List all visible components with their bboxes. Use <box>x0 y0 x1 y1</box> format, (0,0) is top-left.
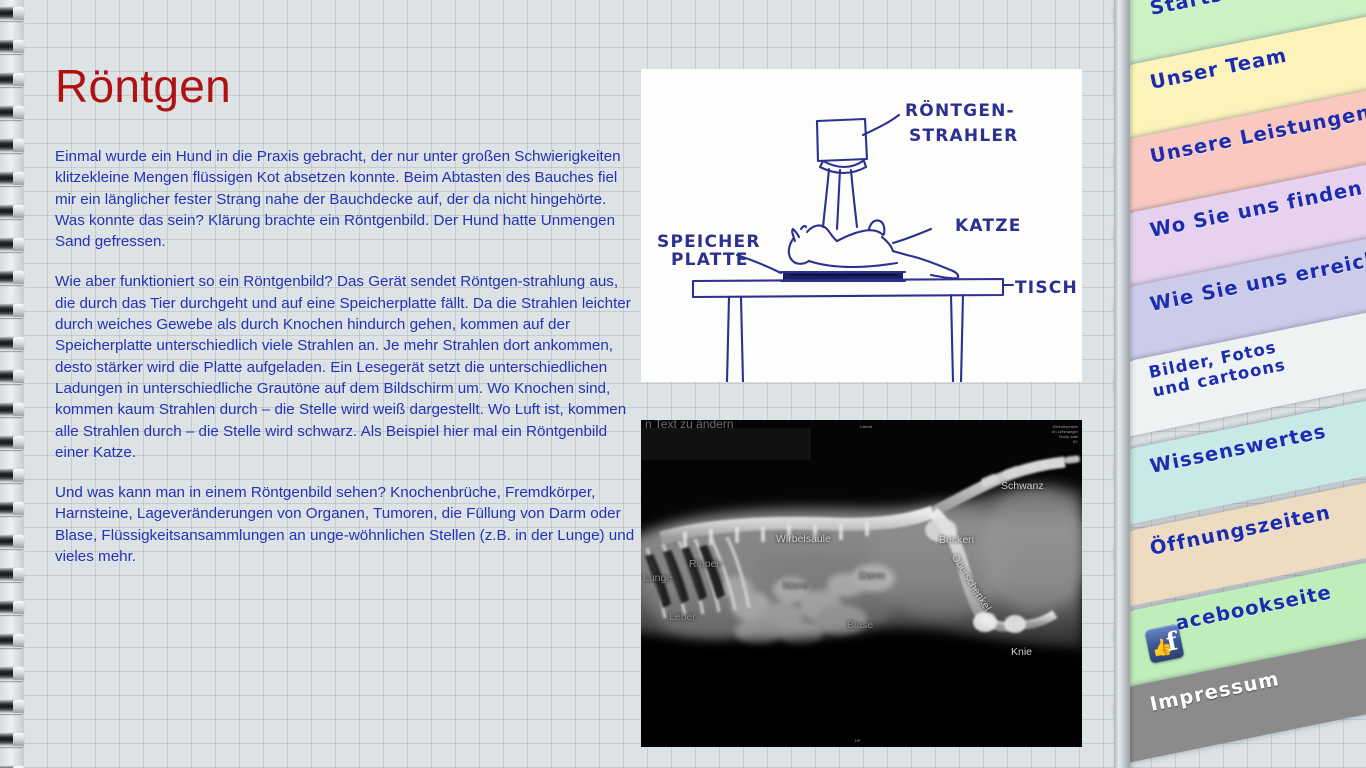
binding-ring <box>0 336 24 351</box>
article-content: Röntgen Einmal wurde ein Hund in die Pra… <box>55 60 635 567</box>
binding-ring <box>0 633 24 648</box>
sketch-drawing: RÖNTGEN- STRAHLER KATZE SPEICHER PLATTE … <box>641 69 1082 382</box>
facebook-icon: 👍 f <box>1144 624 1184 664</box>
binding-ring <box>0 72 24 87</box>
binding-ring <box>0 600 24 615</box>
xray-label-becken: Becken <box>939 534 974 546</box>
xray-label-knie: Knie <box>1011 646 1032 658</box>
binding-ring <box>0 369 24 384</box>
binding-ring <box>0 468 24 483</box>
spiral-binding <box>0 0 24 768</box>
xray-label-leber: Leber <box>669 611 696 623</box>
xray-label-niere: Niere <box>783 580 808 592</box>
binding-ring <box>0 666 24 681</box>
binding-ring <box>0 732 24 747</box>
binding-ring <box>0 270 24 285</box>
binding-ring <box>0 435 24 450</box>
xray-render <box>641 420 1082 747</box>
binding-ring <box>0 501 24 516</box>
nav-tab-label: Startseite <box>1148 0 1271 20</box>
nav-tab-label: Wissenswertes <box>1148 420 1328 478</box>
binding-ring <box>0 138 24 153</box>
sketch-label-plate-line1: SPEICHER <box>657 232 761 252</box>
binding-ring <box>0 39 24 54</box>
xray-setup-sketch: RÖNTGEN- STRAHLER KATZE SPEICHER PLATTE … <box>641 69 1082 382</box>
xray-metadata: Kleintierpraxis An Lehmanger Study date … <box>1052 424 1078 444</box>
binding-ring <box>0 237 24 252</box>
xray-label-schwanz: Schwanz <box>1001 480 1044 492</box>
binding-ring <box>0 567 24 582</box>
xray-label-lunge: Lunge <box>643 572 672 584</box>
binder-spine <box>1114 0 1130 768</box>
article-paragraph-1: Einmal wurde ein Hund in die Praxis gebr… <box>55 146 635 252</box>
sketch-label-source-line2: STRAHLER <box>909 126 1018 146</box>
binding-ring <box>0 534 24 549</box>
sidebar-tab-navigation: Startseite Unser Team Unsere Leistungen … <box>1100 0 1366 768</box>
binding-ring <box>0 303 24 318</box>
article-paragraph-3: Und was kann man in einem Röntgenbild se… <box>55 482 635 567</box>
page-title: Röntgen <box>55 60 635 112</box>
cat-xray-image: n Text zu ändern Lateral Kleintierpraxis… <box>641 420 1082 747</box>
sketch-label-cat: KATZE <box>955 216 1022 236</box>
xray-label-darm: Darm <box>859 570 885 582</box>
xray-clipped-header: n Text zu ändern <box>645 420 734 431</box>
sketch-label-table: TISCH <box>1015 278 1078 298</box>
binding-ring <box>0 6 24 21</box>
sketch-label-plate-line2: PLATTE <box>671 250 749 270</box>
xray-view-marker: Lateral <box>860 424 872 429</box>
binding-ring <box>0 204 24 219</box>
binding-ring <box>0 402 24 417</box>
xray-label-rippen: Rippen <box>689 558 722 570</box>
binding-ring <box>0 105 24 120</box>
article-paragraph-2: Wie aber funktioniert so ein Röntgenbild… <box>55 271 635 463</box>
sketch-label-source-line1: RÖNTGEN- <box>905 99 1015 121</box>
binding-ring <box>0 699 24 714</box>
xray-footer-marker: HP <box>855 738 861 743</box>
xray-label-wirbelsaeule: Wirbelsäule <box>776 533 831 545</box>
xray-label-blase: Blase <box>847 619 873 631</box>
binding-ring <box>0 171 24 186</box>
